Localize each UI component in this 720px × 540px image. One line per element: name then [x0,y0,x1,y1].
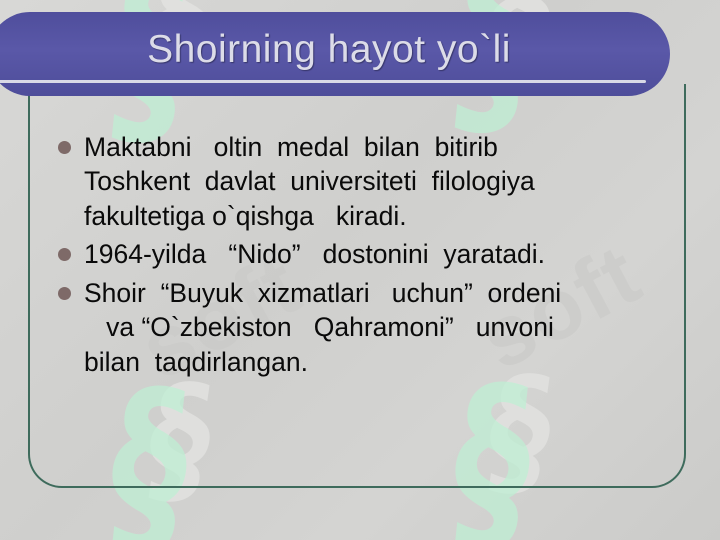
slide: § § § § § § § § soft soft Shoirning hayo… [0,0,720,540]
slide-title-bar: Shoirning hayot yo`li [0,12,670,96]
list-item: Maktabni oltin medal bilan bitirib Toshk… [52,130,672,233]
bullet-dot-icon [58,287,71,300]
text-line: Maktabni oltin medal bilan bitirib [84,130,672,164]
page-title: Shoirning hayot yo`li [147,28,511,72]
text-line: Shoir “Buyuk xizmatlari uchun” ordeni [84,276,672,310]
text-line: Toshkent davlat universiteti filologiya [84,164,672,198]
title-underline [0,80,646,83]
text-line: 1964-yilda “Nido” dostonini yaratadi. [84,237,672,271]
text-line: va “O`zbekiston Qahramoni” unvoni [84,310,672,344]
bullet-dot-icon [58,248,71,261]
list-item-text: Maktabni oltin medal bilan bitirib Toshk… [84,130,672,233]
list-item: Shoir “Buyuk xizmatlari uchun” ordeni va… [52,276,672,379]
bullet-dot-icon [58,141,71,154]
text-line: fakultetiga o`qishga kiradi. [84,199,672,233]
bullet-list: Maktabni oltin medal bilan bitirib Toshk… [52,130,672,383]
list-item-text: Shoir “Buyuk xizmatlari uchun” ordeni va… [84,276,672,379]
list-item: 1964-yilda “Nido” dostonini yaratadi. [52,237,672,271]
text-line: bilan taqdirlangan. [84,345,672,379]
list-item-text: 1964-yilda “Nido” dostonini yaratadi. [84,237,672,271]
